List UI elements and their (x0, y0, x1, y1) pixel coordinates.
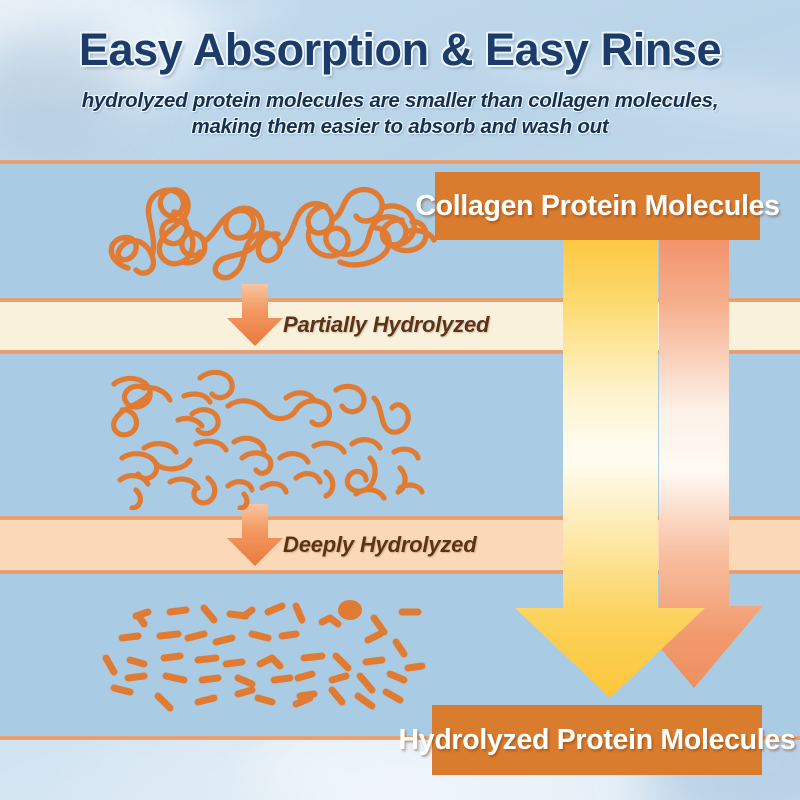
divider-rule-top (0, 160, 800, 164)
deeply-hydrolyzed-down-arrow-icon (224, 504, 286, 566)
banner-collagen-label: Collagen Protein Molecules (415, 190, 779, 223)
subtitle-line-2: making them easier to absorb and wash ou… (28, 114, 772, 140)
partially-hydrolyzed-down-arrow-icon (224, 284, 286, 346)
deeply-hydrolyzed-molecule-illustration (100, 580, 440, 720)
banner-hydrolyzed-protein-molecules: Hydrolyzed Protein Molecules (432, 705, 762, 775)
collagen-molecule-illustration (100, 170, 440, 290)
page-title: Easy Absorption & Easy Rinse (0, 26, 800, 73)
partially-hydrolyzed-molecule-illustration (100, 362, 440, 510)
page-subtitle: hydrolyzed protein molecules are smaller… (28, 88, 772, 140)
step-label-deeply-hydrolyzed: Deeply Hydrolyzed (283, 532, 476, 558)
subtitle-line-1: hydrolyzed protein molecules are smaller… (28, 88, 772, 114)
absorption-flow-arrow (500, 236, 800, 716)
banner-hydrolyzed-label: Hydrolyzed Protein Molecules (398, 724, 795, 757)
banner-collagen-protein-molecules: Collagen Protein Molecules (435, 172, 760, 240)
header: Easy Absorption & Easy Rinse hydrolyzed … (0, 0, 800, 162)
step-label-partially-hydrolyzed: Partially Hydrolyzed (283, 312, 489, 338)
infographic-canvas: Easy Absorption & Easy Rinse hydrolyzed … (0, 0, 800, 800)
